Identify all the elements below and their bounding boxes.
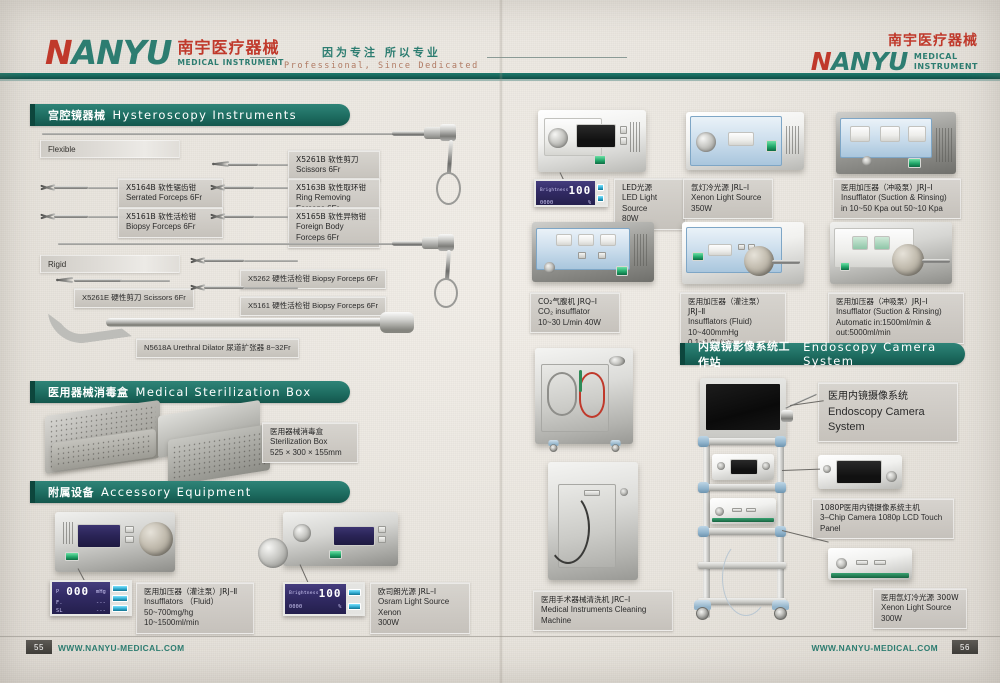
lcd-insufflator-row2: SL — [56, 608, 63, 614]
label-xenon-en: Xenon Light Source — [691, 193, 765, 204]
label-serrated-forceps-en: Serrated Forceps 6Fr — [126, 193, 215, 204]
label-insufflator-suction-2-spec: Automatic in:1500ml/min & out:5000ml/min — [836, 318, 956, 339]
device-led-light-source — [538, 110, 646, 172]
label-xenon-light-source: 氙灯冷光源 JRL–Ⅰ Xenon Light Source 350W — [683, 178, 773, 219]
label-insufflator-suction-1-spec: in 10~50 Kpa out 50~10 Kpa — [841, 204, 953, 215]
label-insufflator-fluid-en: Insufflators （Fluid） — [144, 597, 246, 608]
brand-right-en-2: INSTRUMENT — [914, 62, 978, 72]
lcd-led-row2: 0000 — [540, 200, 553, 206]
label-osram-spec: 300W — [378, 618, 462, 629]
label-insufflator-suction-1-en: Insufflator (Suction & Rinsing) — [841, 193, 953, 204]
label-xenon-spec: 350W — [691, 204, 765, 215]
section-accessory-en: Accessory Equipment — [101, 485, 252, 499]
label-osram-light-source: 欧司朗光源 JRL–Ⅰ Osram Light Source Xenon 300… — [370, 582, 470, 634]
trolley-joint-2r — [775, 482, 786, 493]
section-sterilization-cn: 医用器械消毒盒 — [48, 384, 129, 400]
device-cleaning-machine-bottom — [548, 462, 638, 580]
trolley-device-camera — [712, 454, 774, 480]
device-insufflator-suction-rinsing-1 — [836, 112, 956, 174]
trolley-joint-3l — [698, 526, 709, 537]
wordmark-initial: N — [45, 36, 72, 69]
label-insufflator-suction-1-cn: 医用加压器（冲吸泵）JRJ–Ⅰ — [841, 183, 953, 193]
label-insufflator-fluid-cn: 医用加压器（灌注泵）JRJ–Ⅱ — [144, 587, 246, 597]
label-cleaning-machine-cn: 医用手术器械清洗机 JRC–Ⅰ — [541, 595, 665, 605]
section-camera-cn: 内窥镜影像系统工作站 — [698, 338, 796, 370]
label-xenon-300w-cn: 医用氙灯冷光源 300W — [881, 593, 959, 603]
brand-wordmark: NANYU — [45, 36, 171, 69]
label-osram-cn: 欧司朗光源 JRL–Ⅰ — [378, 587, 462, 597]
label-sterilization-cn: 医用器械消毒盒 — [270, 427, 350, 437]
trolley-caster-right — [772, 600, 789, 620]
label-insufflator-suction-2: 医用加压器（冲吸泵）JRJ–Ⅰ Insufflator (Suction & R… — [828, 292, 964, 344]
label-1080p-camera-panel: 1080P医用内镜摄像系统主机 3–Chip Camera 1080p LCD … — [812, 498, 954, 539]
lcd-osram-label: Brightness — [289, 591, 319, 596]
device-insufflator-fluid — [55, 512, 175, 572]
page-number-left: 55 — [26, 640, 52, 654]
slogan-rule-right — [487, 57, 627, 58]
label-insufflator-suction-2-en: Insufflator (Suction & Rinsing) — [836, 307, 956, 318]
device-co2-insufflator — [532, 222, 654, 282]
label-foreign-body-forceps-cn: X5165B 软性异物钳 — [296, 212, 372, 222]
label-scissors-flex-cn: X5261B 软性剪刀 — [296, 155, 372, 165]
wordmark-rest: ANYU — [72, 36, 172, 69]
label-serrated-forceps: X5164B 软性锯齿钳 Serrated Forceps 6Fr — [118, 178, 223, 209]
lcd-led-label: Brightness — [540, 188, 568, 193]
label-xenon-300w: 医用氙灯冷光源 300W Xenon Light Source 300W — [873, 588, 967, 629]
trolley-joint-2l — [698, 482, 709, 493]
trolley-shelf-3 — [698, 528, 786, 535]
section-header-camera-system: 内窥镜影像系统工作站 Endoscopy Camera System — [680, 343, 965, 365]
slogan-english: Professional, Since Dedicated — [284, 61, 479, 71]
footer-url-left: WWW.NANYU-MEDICAL.COM — [58, 643, 185, 653]
trolley-shelf-1 — [698, 438, 786, 445]
label-co2-cn: CO₂气腹机 JRQ–Ⅰ — [538, 297, 612, 307]
slogan-block: 因为专注 所以专业 Professional, Since Dedicated — [250, 44, 627, 71]
label-insufflator-suction-1: 医用加压器（冲吸泵）JRJ–Ⅰ Insufflator (Suction & R… — [833, 178, 961, 219]
trolley-joint-1l — [698, 436, 709, 447]
label-insufflator-fluid-spec: 50~700mg/hg 10~1500ml/min — [144, 608, 246, 629]
label-osram-en: Osram Light Source Xenon — [378, 597, 462, 618]
group-tag-flexible: Flexible — [40, 140, 180, 158]
label-biopsy-forceps-flex-en: Biopsy Forceps 6Fr — [126, 222, 215, 233]
label-urethral-dilator: N5618A Urethral Dilator 尿道扩张器 8~32Fr — [136, 338, 299, 358]
footer-url-right: WWW.NANYU-MEDICAL.COM — [811, 643, 938, 653]
slogan-dash-left — [250, 57, 276, 58]
lcd-led-value: 100 — [568, 184, 591, 197]
catalog-page: NANYU 南宇医疗器械 MEDICAL INSTRUMENT 因为专注 所以专… — [0, 0, 1000, 683]
label-1080p-en: 3–Chip Camera 1080p LCD Touch Panel — [820, 513, 946, 534]
lcd-callout-insufflator: P000mHg F.--- SL--- — [50, 580, 132, 616]
label-led-en: LED Light Source — [622, 193, 678, 214]
label-insufflator-fluid: 医用加压器（灌注泵）JRJ–Ⅱ Insufflators （Fluid） 50~… — [136, 582, 254, 634]
device-osram-light-source — [283, 512, 398, 566]
label-biopsy-forceps-flex-cn: X5161B 软性活检钳 — [126, 212, 215, 222]
section-sterilization-en: Medical Sterilization Box — [136, 385, 312, 399]
device-insufflator-suction-rinsing-2 — [830, 222, 952, 284]
light-guide-connector — [258, 538, 288, 568]
trolley-caster-left — [694, 600, 711, 620]
device-1080p-camera-panel — [818, 455, 902, 489]
brand-logo-right: 南宇医疗器械 NANYU MEDICAL INSTRUMENT — [811, 34, 978, 74]
label-scissors-flex-en: Scissors 6Fr — [296, 165, 372, 176]
label-led-cn: LED光源 — [622, 183, 678, 193]
lcd-callout-osram: Brightness100 0000% — [283, 582, 365, 616]
device-insufflator-fluid-2 — [682, 222, 804, 284]
lcd-insufflator-value: 000 — [66, 585, 89, 598]
label-sterilization-box: 医用器械消毒盒 Sterilization Box 525 × 300 × 15… — [262, 422, 358, 463]
group-tag-rigid: Rigid — [40, 255, 180, 273]
label-co2-spec: 10~30 L/min 40W — [538, 318, 612, 329]
label-foreign-body-forceps-en: Foreign Body Forceps 6Fr — [296, 222, 372, 243]
brand-right-en-1: MEDICAL — [914, 52, 978, 62]
lcd-callout-led: Brightness100 0000% — [534, 179, 608, 207]
section-hysteroscopy-en: Hysteroscopy Instruments — [113, 108, 298, 122]
label-sterilization-spec: 525 × 300 × 155mm — [270, 448, 350, 459]
lcd-insufflator-row1: F. — [56, 600, 63, 606]
lcd-osram-value: 100 — [319, 587, 342, 600]
label-co2-insufflator: CO₂气腹机 JRQ–Ⅰ CO₂ insufflator 10~30 L/min… — [530, 292, 620, 333]
label-cleaning-machine-en: Medical Instruments Cleaning Machine — [541, 605, 665, 626]
device-xenon-light-source — [686, 112, 804, 170]
section-header-hysteroscopy: 宫腔镜器械 Hysteroscopy Instruments — [30, 104, 350, 126]
trolley-monitor — [700, 378, 786, 440]
section-camera-en: Endoscopy Camera System — [803, 340, 965, 368]
trolley-device-light-source — [710, 498, 776, 524]
page-number-right: 56 — [952, 640, 978, 654]
label-foreign-body-forceps: X5165B 软性异物钳 Foreign Body Forceps 6Fr — [288, 207, 380, 248]
label-camera-system-main: 医用内镜摄像系统 Endoscopy Camera System — [818, 382, 958, 442]
label-ring-removing-forceps-cn: X5163B 软性取环钳 — [296, 183, 372, 193]
label-xenon-cn: 氙灯冷光源 JRL–Ⅰ — [691, 183, 765, 193]
label-co2-en: CO₂ insufflator — [538, 307, 612, 318]
trolley-shelf-2 — [698, 484, 786, 491]
label-sterilization-en: Sterilization Box — [270, 437, 350, 448]
label-cleaning-machine: 医用手术器械清洗机 JRC–Ⅰ Medical Instruments Clea… — [533, 590, 673, 631]
trolley-joint-1r — [775, 436, 786, 447]
lcd-osram-unit: % — [338, 604, 341, 610]
section-header-accessory: 附属设备 Accessory Equipment — [30, 481, 350, 503]
label-insufflator-fluid-2-cn: 医用加压器（灌注泵） JRJ–Ⅱ — [688, 297, 778, 317]
lcd-led-unit: % — [588, 200, 591, 206]
lcd-osram-row1: 0000 — [289, 604, 302, 610]
section-hysteroscopy-cn: 宫腔镜器械 — [48, 107, 106, 123]
lcd-insufflator-label: P — [56, 589, 59, 595]
slogan-chinese: 因为专注 所以专业 — [284, 44, 479, 60]
label-scissors-flex: X5261B 软性剪刀 Scissors 6Fr — [288, 150, 380, 181]
section-header-sterilization: 医用器械消毒盒 Medical Sterilization Box — [30, 381, 350, 403]
label-insufflator-fluid-2-en: Insufflators (Fluid) — [688, 317, 778, 328]
label-1080p-cn: 1080P医用内镜摄像系统主机 — [820, 503, 946, 513]
brand-logo-left: NANYU 南宇医疗器械 MEDICAL INSTRUMENT — [45, 36, 284, 69]
label-biopsy-forceps-flex: X5161B 软性活检钳 Biopsy Forceps 6Fr — [118, 207, 223, 238]
label-camera-main-en: Endoscopy Camera System — [828, 405, 948, 434]
brand-right-wordmark: NANYU — [811, 49, 908, 74]
device-cleaning-machine-top — [535, 348, 633, 444]
device-xenon-300w — [828, 548, 912, 580]
label-serrated-forceps-cn: X5164B 软性锯齿钳 — [126, 183, 215, 193]
lcd-insufflator-unit: mHg — [96, 589, 106, 595]
page-gutter — [499, 0, 503, 683]
trolley-cable — [722, 540, 770, 616]
label-rigid-biopsy-x5262: X5262 硬性活检钳 Biopsy Forceps 6Fr — [240, 269, 386, 289]
label-camera-main-cn: 医用内镜摄像系统 — [828, 390, 948, 403]
label-xenon-300w-en: Xenon Light Source 300W — [881, 603, 959, 624]
section-accessory-cn: 附属设备 — [48, 484, 94, 500]
leader-camera-panel — [782, 469, 820, 471]
label-insufflator-suction-2-cn: 医用加压器（冲吸泵）JRJ–Ⅰ — [836, 297, 956, 307]
